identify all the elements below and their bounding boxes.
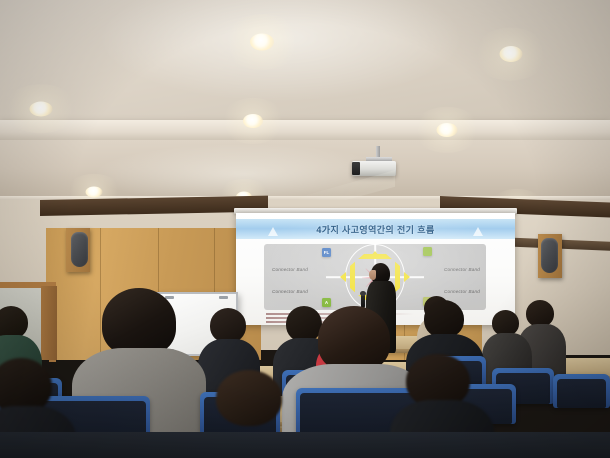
flow-arrow-right-icon <box>404 272 410 282</box>
flow-arrow-left-icon <box>340 272 346 282</box>
downlight-icon <box>85 186 102 197</box>
quadrant-label-bottom-left: Connector Band <box>272 289 308 294</box>
quadrant-label-top-right: Connector Band <box>444 267 480 272</box>
quadrant-label-top-left: Connector Band <box>272 267 308 272</box>
foreground-table-edge <box>0 432 610 458</box>
quadrant-icon-green <box>423 247 432 256</box>
chair[interactable] <box>553 374 610 408</box>
door-panel[interactable] <box>41 286 57 360</box>
quadrant-icon-blue: FL <box>322 248 331 257</box>
wall-speaker-right <box>538 234 562 278</box>
quadrant-label-bottom-right: Connector Band <box>444 289 480 294</box>
downlight-icon <box>250 33 274 50</box>
projector-lens-icon <box>352 162 360 175</box>
downlight-icon <box>436 123 457 137</box>
downlight-icon <box>499 46 522 62</box>
flow-arrow-up-icon <box>370 251 380 257</box>
lecture-room-photo: 4가지 사고영역간의 전기 흐름 <box>0 0 610 458</box>
microphone-head-icon <box>360 291 366 296</box>
ceiling-upper-plane <box>0 0 610 128</box>
quadrant-icon-lime: A <box>322 298 331 307</box>
presenter-face <box>369 270 376 280</box>
ceiling-soffit <box>0 120 610 142</box>
downlight-icon <box>243 114 263 128</box>
slide-title: 4가지 사고영역간의 전기 흐름 <box>236 221 515 237</box>
downlight-icon <box>29 101 52 116</box>
wall-speaker-left <box>66 228 90 272</box>
